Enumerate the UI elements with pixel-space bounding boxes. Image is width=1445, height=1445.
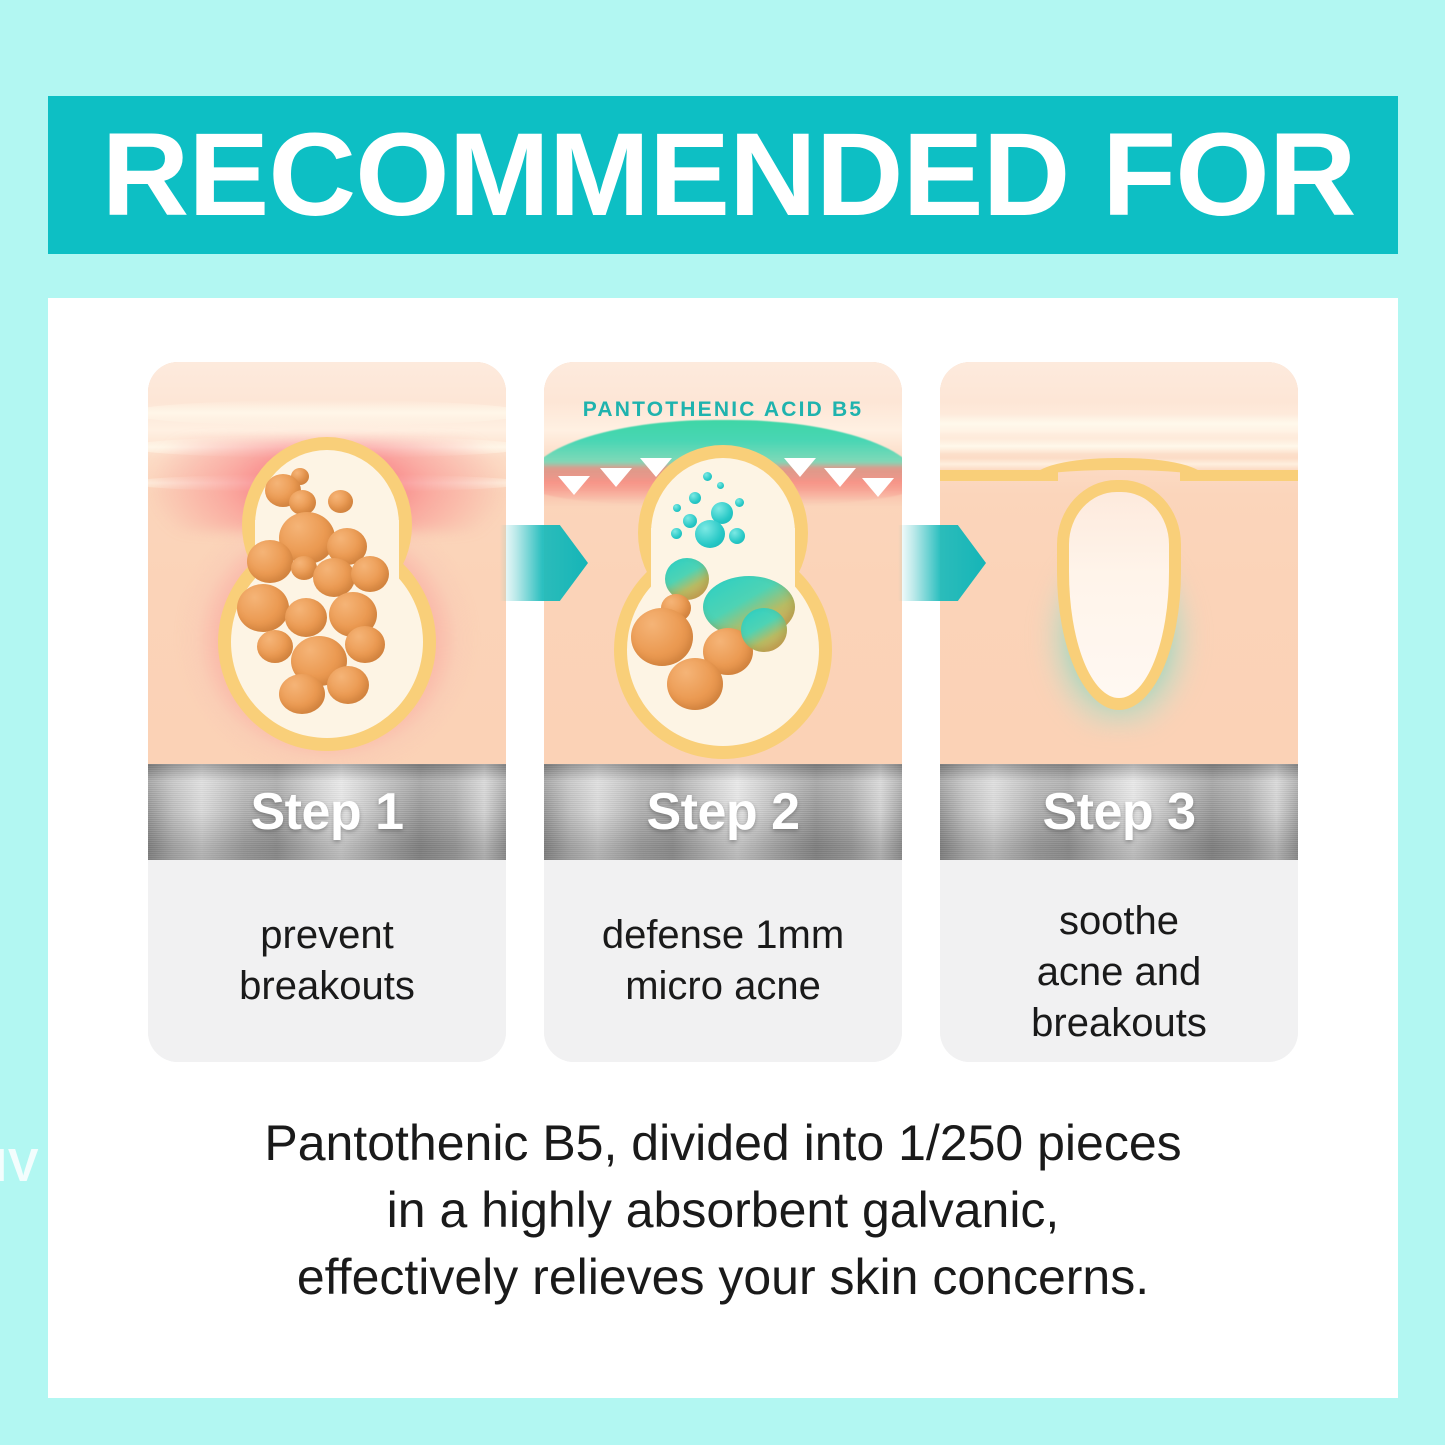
page-title: RECOMMENDED FOR [48, 116, 1356, 234]
sebum-blob [279, 674, 325, 714]
caption-line: breakouts [239, 961, 415, 1012]
step-caption-3: soothe acne and breakouts [940, 860, 1298, 1062]
b5-droplet [683, 514, 697, 528]
sebum-blob [328, 490, 353, 513]
caption-line: acne and [1031, 947, 1207, 998]
penetration-arrow-icon [640, 458, 672, 477]
caption-line: defense 1mm [602, 910, 844, 961]
step-card-3[interactable]: Step 3 soothe acne and breakouts [940, 362, 1298, 1062]
step-band-label: Step 1 [250, 782, 403, 842]
footer-line: effectively relieves your skin concerns. [48, 1244, 1398, 1311]
step-band-3: Step 3 [940, 764, 1298, 860]
watermark-text: ENV [0, 1138, 40, 1192]
neutralized-sebum-blob [741, 608, 787, 652]
sebum-blob [257, 630, 293, 663]
caption-line: micro acne [602, 961, 844, 1012]
sebum-blob [237, 584, 289, 632]
pore-being-treated-icon [625, 458, 821, 748]
sebum-blob-group [229, 450, 425, 740]
penetration-arrow-icon [600, 468, 632, 487]
step-band-1: Step 1 [148, 764, 506, 860]
clean-pore-icon [940, 362, 1298, 764]
penetration-arrow-icon [862, 478, 894, 497]
pore-contents-group [625, 458, 821, 748]
b5-droplet [689, 492, 701, 504]
sebum-blob [313, 558, 355, 597]
illustration-step-2: PANTOTHENIC ACID B5 [544, 362, 902, 764]
step-band-2: Step 2 [544, 764, 902, 860]
b5-droplet [673, 504, 681, 512]
caption-line: prevent [239, 910, 415, 961]
step-caption-1: prevent breakouts [148, 860, 506, 1062]
footer-description: Pantothenic B5, divided into 1/250 piece… [48, 1110, 1398, 1311]
penetration-arrow-icon [824, 468, 856, 487]
caption-line: soothe [1031, 896, 1207, 947]
b5-droplet [695, 520, 725, 548]
sebum-blob [667, 658, 723, 710]
clogged-pore-icon [229, 450, 425, 740]
step-band-label: Step 3 [1042, 782, 1195, 842]
penetration-arrow-icon [558, 476, 590, 495]
caption-line: breakouts [1031, 998, 1207, 1049]
b5-droplet [729, 528, 745, 544]
footer-line: Pantothenic B5, divided into 1/250 piece… [48, 1110, 1398, 1177]
illustration-step-1 [148, 362, 506, 764]
b5-droplet [717, 482, 724, 489]
sebum-blob [285, 598, 327, 637]
step-card-2[interactable]: PANTOTHENIC ACID B5 [544, 362, 902, 1062]
b5-droplet [671, 528, 682, 539]
step-band-label: Step 2 [646, 782, 799, 842]
step-card-1[interactable]: Step 1 prevent breakouts [148, 362, 506, 1062]
steps-row: Step 1 prevent breakouts PANTOTHENIC ACI… [148, 362, 1298, 1062]
header-banner: RECOMMENDED FOR [48, 96, 1398, 254]
b5-droplet [703, 472, 712, 481]
footer-line: in a highly absorbent galvanic, [48, 1177, 1398, 1244]
sebum-blob [247, 540, 293, 583]
sebum-blob [631, 608, 693, 666]
b5-droplet [735, 498, 744, 507]
illustration-step-3 [940, 362, 1298, 764]
skin-wave-band [148, 400, 506, 426]
sebum-blob [327, 666, 369, 704]
sebum-blob [351, 556, 389, 592]
step-caption-2: defense 1mm micro acne [544, 860, 902, 1062]
sebum-blob [345, 626, 385, 663]
penetration-arrow-icon [784, 458, 816, 477]
